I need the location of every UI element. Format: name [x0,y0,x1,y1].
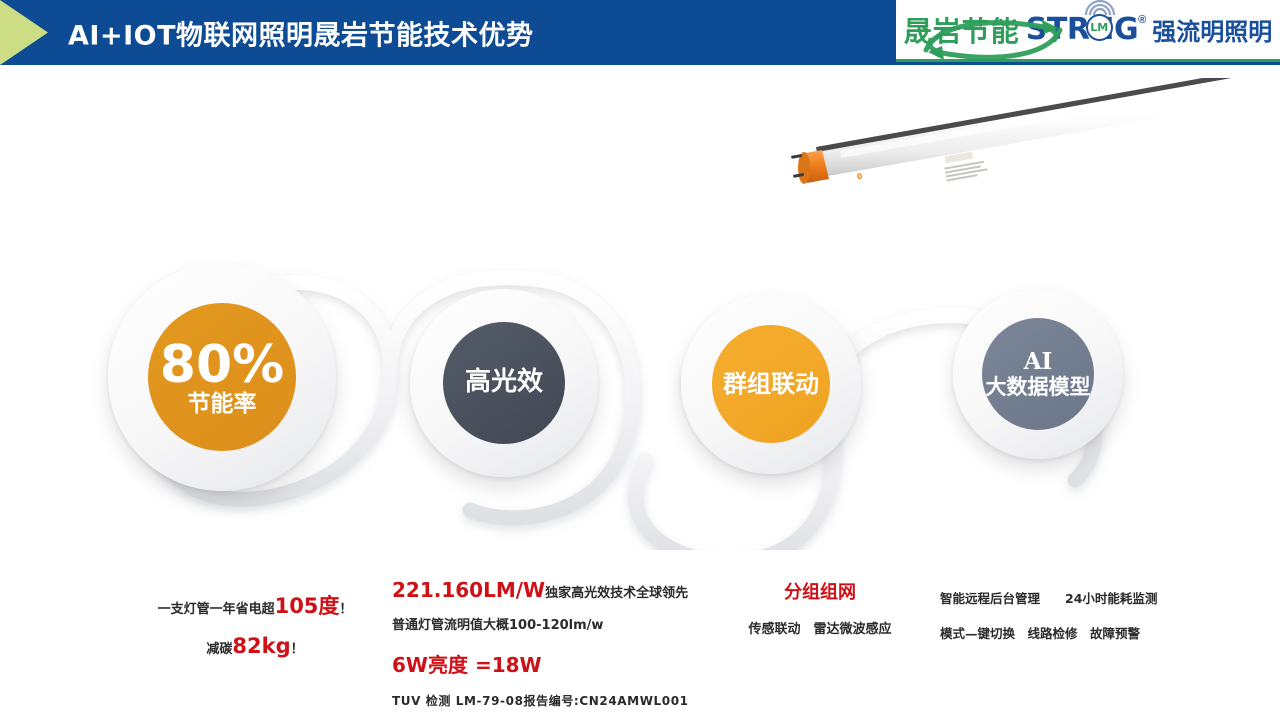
caption-energy-saving: 一支灯管一年省电超105度！ 减碳82kg！ [110,590,400,658]
cap2-line1-post: 独家高光效技术全球领先 [545,586,688,601]
caption-ai-bigdata: 智能远程后台管理 24小时能耗监测 模式—键切换 线路检修 故障预警 [940,588,1230,642]
caption-group-linkage: 分组组网 传感联动 雷达微波感应 [700,578,940,637]
logo-brand-cn: 晟岩节能 [904,10,1020,50]
cap1-line2-post: ！ [291,642,304,657]
cap1-line1-post: ！ [339,602,352,617]
cap2-line1-highlight: 221.160LM/W [392,578,545,602]
node-1-value: 80% [160,336,284,394]
logo-lm-badge: LM [1086,14,1113,41]
logo-brand-en: STRNG [1026,12,1138,47]
cap1-line2-pre: 减碳 [206,642,232,657]
node-2-label: 高光效 [465,368,543,397]
cap2-line4-report: TUV 检测 LM-79-08报告编号:CN24AMWL001 [392,692,712,709]
logo-strong-group: STRNG LM ® [1026,12,1147,47]
node-group-linkage[interactable]: 群组联动 [712,325,830,443]
cap1-line1-pre: 一支灯管一年省电超 [158,602,275,617]
node-4-label: 大数据模型 [986,376,1091,400]
node-1-label: 节能率 [188,392,257,418]
cap3-line2: 传感联动 雷达微波感应 [700,618,940,637]
page-title: AI+IOT物联网照明晟岩节能技术优势 [68,13,533,52]
cap3-line1: 分组组网 [700,578,940,604]
cap4-line1: 智能远程后台管理 24小时能耗监测 [940,588,1230,607]
led-tube-product-image: 0 • MICROWAVE [760,78,1280,203]
cap1-line1-highlight: 105度 [275,594,340,618]
svg-text:• MICROWAVE: • MICROWAVE [869,161,928,179]
cap4-line2: 模式—键切换 线路检修 故障预警 [940,623,1230,642]
caption-high-efficacy: 221.160LM/W独家高光效技术全球领先 普通灯管流明值大概100-120l… [392,578,712,709]
chevron-arrow-icon [0,0,48,65]
svg-text:0: 0 [856,172,863,182]
node-ai-bigdata[interactable]: AI 大数据模型 [982,318,1094,430]
cap2-line2: 普通灯管流明值大概100-120lm/w [392,614,712,633]
brand-logo: 晟岩节能 STRNG LM ® 强流明照明 [896,0,1280,62]
node-high-efficacy[interactable]: 高光效 [443,322,565,444]
node-3-label: 群组联动 [723,371,819,398]
cap1-line2-highlight: 82kg [232,634,290,658]
logo-registered-mark: ® [1138,14,1146,26]
slide-canvas: AI+IOT物联网照明晟岩节能技术优势 晟岩节能 STRNG LM ® 强流明照… [0,0,1280,720]
node-energy-saving[interactable]: 80% 节能率 [148,303,296,451]
cap2-line3: 6W亮度 =18W [392,649,712,678]
node-4-value: AI [1024,349,1053,375]
logo-brand-cn2: 强流明照明 [1152,12,1272,47]
